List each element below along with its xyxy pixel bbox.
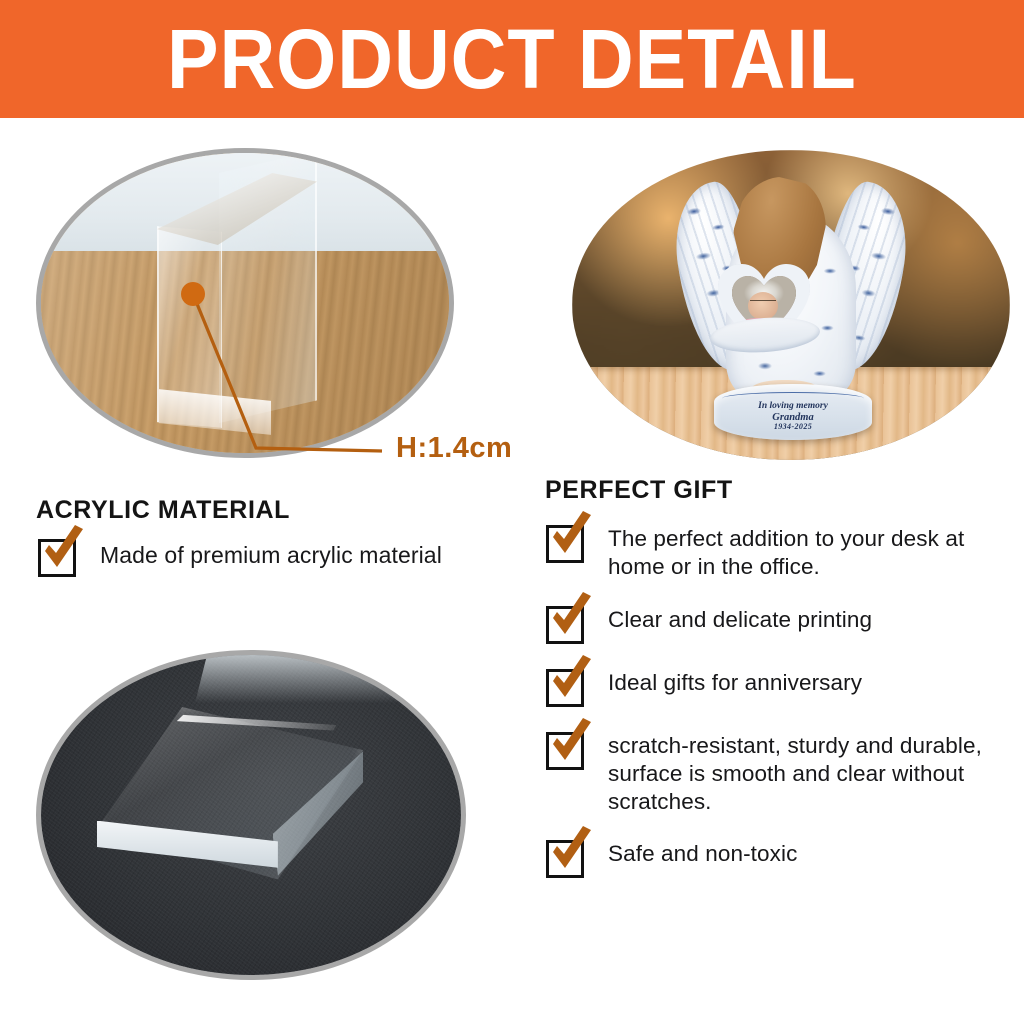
angel-figurine-photo: In loving memory Grandma 1934-2025 — [572, 150, 1010, 460]
checkbox-icon — [546, 606, 584, 644]
page-title: PRODUCT DETAIL — [167, 17, 857, 101]
list-item-label: Safe and non-toxic — [584, 837, 797, 868]
height-callout-label: H:1.4cm — [396, 432, 512, 465]
list-item-label: Clear and delicate printing — [584, 603, 872, 634]
acrylic-edge-photo — [36, 148, 454, 458]
list-item: Ideal gifts for anniversary — [546, 666, 998, 707]
figurine-base: In loving memory Grandma 1934-2025 — [714, 384, 872, 440]
list-item: Safe and non-toxic — [546, 837, 998, 878]
check-icon — [545, 592, 597, 644]
section-heading-perfect-gift: PERFECT GIFT — [545, 476, 733, 505]
wood-table-scene — [39, 151, 451, 455]
check-icon — [37, 525, 89, 577]
checkbox-icon — [546, 525, 584, 563]
check-icon — [545, 826, 597, 878]
acrylic-slab — [157, 173, 315, 425]
acrylic-block — [97, 707, 363, 903]
angel-figurine: In loving memory Grandma 1934-2025 — [680, 172, 902, 440]
slate-highlight — [195, 655, 409, 703]
glasses-icon — [750, 300, 776, 307]
product-detail-banner: PRODUCT DETAIL — [0, 0, 1024, 118]
check-icon — [545, 655, 597, 707]
list-item: Clear and delicate printing — [546, 603, 998, 644]
list-item: Made of premium acrylic material — [38, 536, 508, 577]
check-icon — [545, 718, 597, 770]
acrylic-block-photo — [36, 650, 466, 980]
list-item: scratch-resistant, sturdy and durable, s… — [546, 729, 998, 816]
list-item: The perfect addition to your desk at hom… — [546, 522, 998, 581]
section-heading-acrylic-material: ACRYLIC MATERIAL — [36, 496, 290, 525]
check-icon — [545, 511, 597, 563]
list-item-label: The perfect addition to your desk at hom… — [584, 522, 998, 581]
inscription-line-3: 1934-2025 — [714, 423, 872, 431]
list-item-label: scratch-resistant, sturdy and durable, s… — [584, 729, 998, 816]
inscription-line-1: In loving memory — [714, 402, 872, 412]
checkbox-icon — [546, 669, 584, 707]
base-inscription: In loving memory Grandma 1934-2025 — [714, 402, 872, 431]
list-item-label: Ideal gifts for anniversary — [584, 666, 862, 697]
feature-list-perfect-gift: The perfect addition to your desk at hom… — [546, 522, 998, 878]
checkbox-icon — [38, 539, 76, 577]
list-item-label: Made of premium acrylic material — [76, 536, 442, 570]
feature-list-acrylic-material: Made of premium acrylic material — [38, 536, 508, 577]
checkbox-icon — [546, 732, 584, 770]
checkbox-icon — [546, 840, 584, 878]
